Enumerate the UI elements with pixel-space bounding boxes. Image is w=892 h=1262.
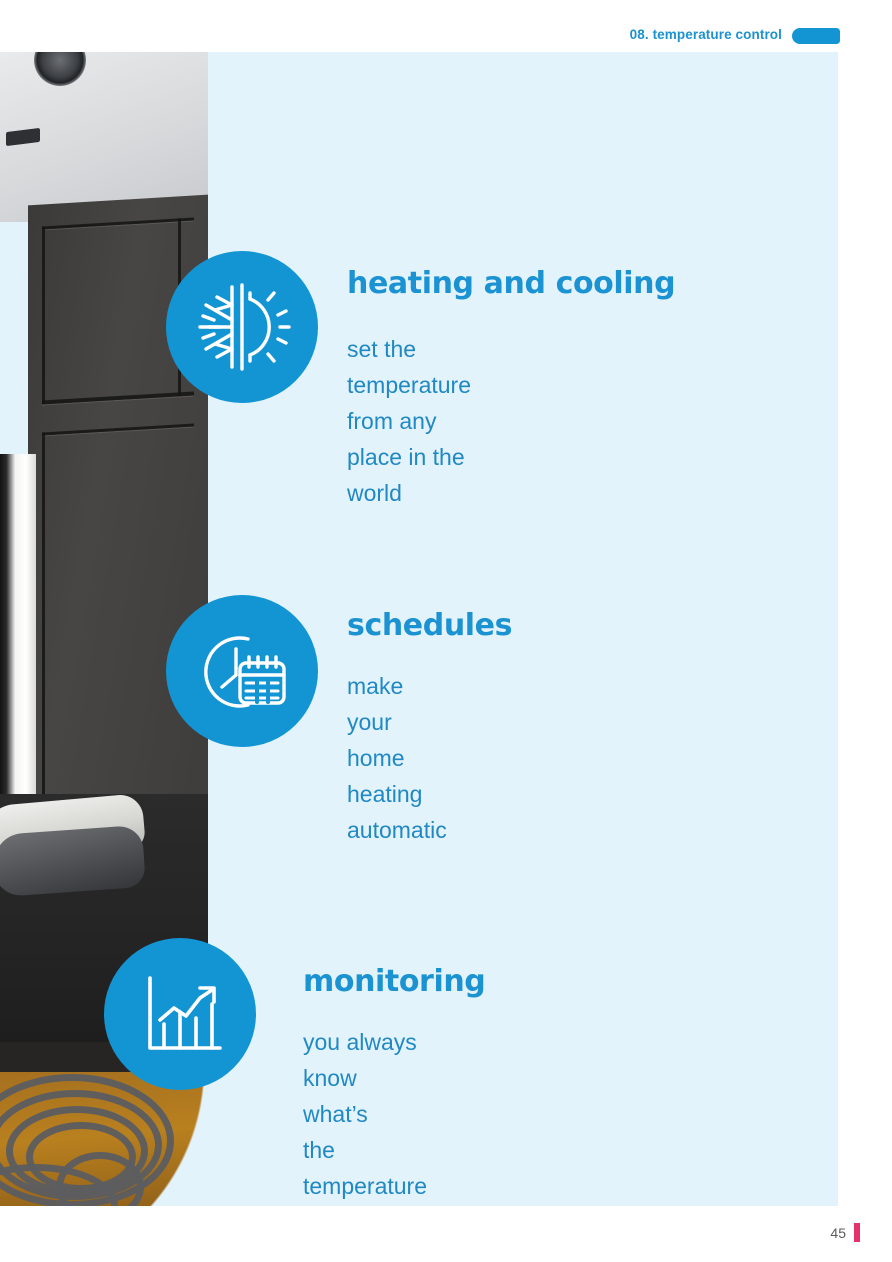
feature-description: you always know what’s the temperature: [303, 1024, 427, 1204]
page-footer: 45: [0, 1206, 892, 1262]
page-header: 08. temperature control: [0, 0, 892, 52]
photo-moulding: [42, 423, 194, 435]
photo-grey-pillow: [0, 825, 146, 897]
page-root: 08. temperature control: [0, 0, 892, 1262]
page-number: 45: [830, 1225, 846, 1241]
pill-shape-icon: [792, 28, 840, 44]
section-label: 08. temperature control: [630, 27, 782, 42]
photo-moulding: [42, 391, 194, 404]
feature-title: monitoring: [303, 964, 485, 999]
feature-title: schedules: [347, 608, 512, 643]
clock-calendar-icon: [166, 595, 318, 747]
feature-description: make your home heating automatic: [347, 668, 447, 848]
page-marker-bar: [854, 1223, 860, 1242]
feature-description: set the temperature from any place in th…: [347, 331, 471, 511]
snowflake-sun-icon: [166, 251, 318, 403]
feature-title: heating and cooling: [347, 266, 675, 301]
bar-chart-arrow-icon: [104, 938, 256, 1090]
photo-moulding: [42, 432, 45, 832]
photo-moulding: [42, 217, 194, 229]
photo-moulding: [42, 226, 45, 404]
